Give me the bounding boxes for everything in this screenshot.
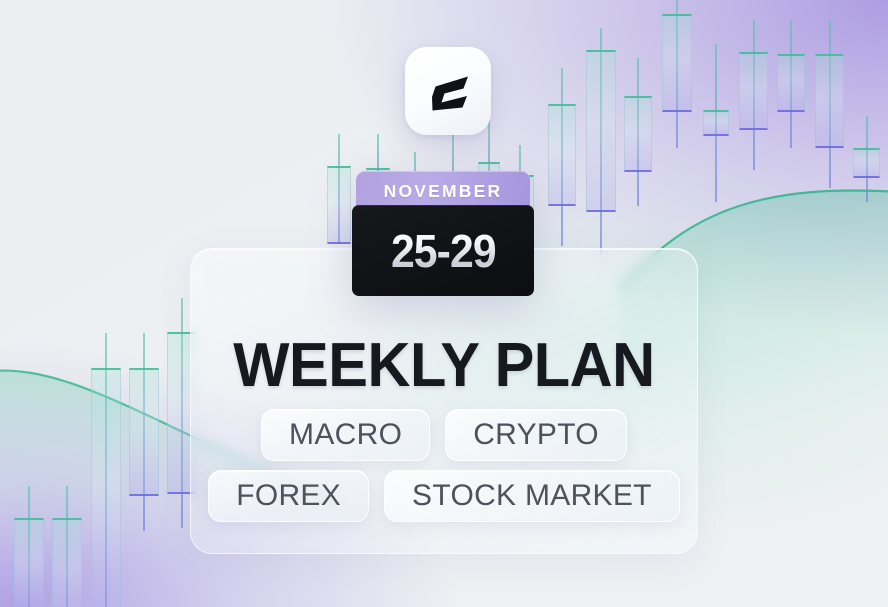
candle-r4 bbox=[624, 58, 652, 206]
tag-stock-market[interactable]: STOCK MARKET bbox=[384, 470, 680, 522]
candle-r6 bbox=[703, 44, 729, 202]
tag-forex[interactable]: FOREX bbox=[208, 470, 369, 522]
candle-l2 bbox=[52, 486, 82, 607]
tag-macro[interactable]: MACRO bbox=[261, 409, 430, 461]
page-title: WEEKLY PLAN bbox=[18, 330, 870, 401]
candle-r9 bbox=[815, 20, 844, 188]
tag-crypto[interactable]: CRYPTO bbox=[445, 409, 627, 461]
candle-r7 bbox=[739, 20, 768, 170]
candle-r3 bbox=[586, 28, 616, 256]
tag-row-primary: MACRO CRYPTO bbox=[190, 409, 698, 461]
candle-r10 bbox=[853, 116, 880, 202]
calendar-body: 25-29 bbox=[352, 205, 534, 296]
calendar-day-range: 25-29 bbox=[391, 224, 496, 278]
candle-r8 bbox=[777, 20, 805, 148]
calendar-date-card: NOVEMBER 25-29 bbox=[352, 171, 534, 296]
brand-logo-tile[interactable] bbox=[405, 47, 491, 135]
candle-r5 bbox=[662, 0, 692, 148]
candle-l1 bbox=[14, 486, 44, 607]
calendar-month-label: NOVEMBER bbox=[384, 181, 503, 202]
coinex-c-logo-icon bbox=[422, 65, 474, 117]
poster-canvas: NOVEMBER 25-29 WEEKLY PLAN MACRO CRYPTO … bbox=[0, 0, 888, 607]
candle-m1 bbox=[327, 134, 351, 244]
tag-row-secondary: FOREX STOCK MARKET bbox=[190, 470, 698, 522]
candle-r2 bbox=[548, 68, 576, 246]
